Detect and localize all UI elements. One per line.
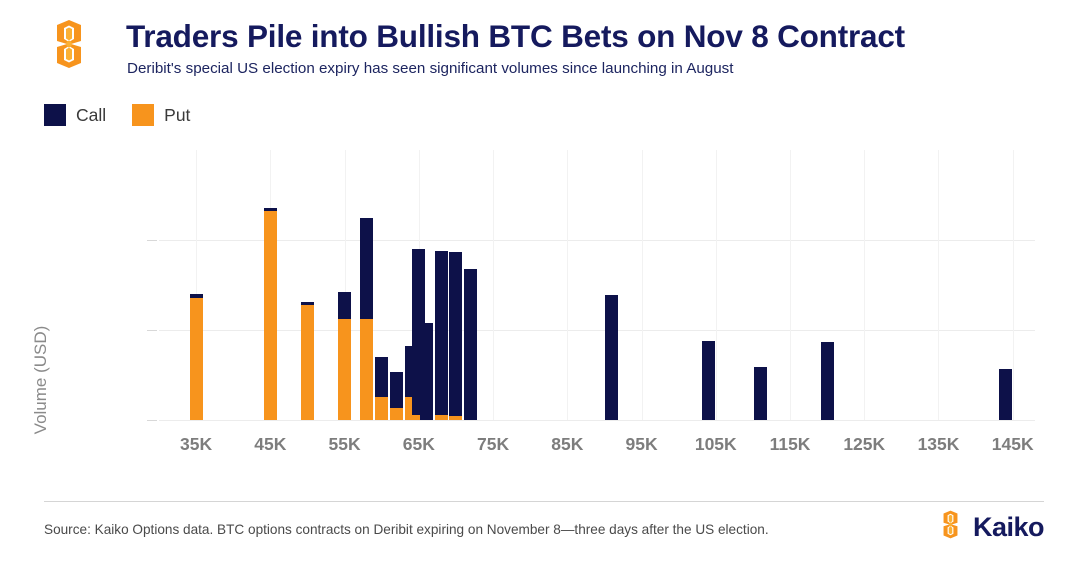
legend-item-put[interactable]: Put xyxy=(132,104,190,126)
gridline-vertical xyxy=(493,150,494,420)
chart-legend: Call Put xyxy=(44,103,216,127)
page-title: Traders Pile into Bullish BTC Bets on No… xyxy=(126,18,905,55)
gridline-vertical xyxy=(716,150,717,420)
bar-column[interactable] xyxy=(605,295,618,420)
bar-segment-call xyxy=(449,252,462,417)
kaiko-hexagon-logo-icon xyxy=(44,19,94,69)
bar-segment-put xyxy=(390,408,403,420)
chart-page: Traders Pile into Bullish BTC Bets on No… xyxy=(0,0,1088,568)
legend-item-call[interactable]: Call xyxy=(44,104,106,126)
x-axis-tick-label: 105K xyxy=(695,434,737,455)
gridline-vertical xyxy=(864,150,865,420)
bar-column[interactable] xyxy=(435,251,448,420)
bar-segment-put xyxy=(190,298,203,420)
x-axis-tick-label: 35K xyxy=(180,434,212,455)
legend-swatch-put xyxy=(132,104,154,126)
bar-column[interactable] xyxy=(449,252,462,420)
bar-segment-call xyxy=(821,342,834,420)
x-axis-tick-label: 65K xyxy=(403,434,435,455)
x-axis-tick-label: 95K xyxy=(625,434,657,455)
bar-segment-put xyxy=(301,305,314,420)
source-note: Source: Kaiko Options data. BTC options … xyxy=(44,522,769,537)
bar-segment-put xyxy=(360,319,373,420)
bar-segment-call xyxy=(190,294,203,298)
x-axis-tick-label: 145K xyxy=(992,434,1034,455)
bar-column[interactable] xyxy=(301,302,314,420)
x-axis-tick-label: 55K xyxy=(329,434,361,455)
bar-column[interactable] xyxy=(264,208,277,420)
gridline-horizontal xyxy=(159,330,1035,331)
bar-segment-call xyxy=(375,357,388,397)
bar-segment-call xyxy=(435,251,448,415)
bar-column[interactable] xyxy=(702,341,715,420)
bar-column[interactable] xyxy=(375,357,388,420)
bar-column[interactable] xyxy=(464,269,477,420)
bar-segment-put xyxy=(338,319,351,420)
legend-label-put: Put xyxy=(164,105,190,126)
bar-chart: Volume (USD) $0M$100M$200M35K45K55K65K75… xyxy=(0,140,1088,470)
bar-segment-call xyxy=(301,302,314,305)
x-axis-tick-label: 135K xyxy=(918,434,960,455)
y-axis-tick-mark xyxy=(147,240,157,241)
legend-swatch-call xyxy=(44,104,66,126)
x-axis-tick-label: 85K xyxy=(551,434,583,455)
bar-column[interactable] xyxy=(999,369,1012,420)
page-header: Traders Pile into Bullish BTC Bets on No… xyxy=(0,0,1088,92)
bar-column[interactable] xyxy=(360,218,373,421)
bar-segment-call xyxy=(999,369,1012,420)
y-axis-tick-mark xyxy=(147,420,157,421)
bar-segment-call xyxy=(464,269,477,420)
bar-column[interactable] xyxy=(190,294,203,420)
brand-name: Kaiko xyxy=(973,512,1044,543)
x-axis-tick-label: 45K xyxy=(254,434,286,455)
bar-segment-call xyxy=(360,218,373,320)
bar-column[interactable] xyxy=(390,372,403,420)
gridline-horizontal xyxy=(159,240,1035,241)
gridline-vertical xyxy=(567,150,568,420)
bar-segment-put xyxy=(435,415,448,420)
gridline-vertical xyxy=(790,150,791,420)
plot-area: $0M$100M$200M35K45K55K65K75K85K95K105K11… xyxy=(159,150,1035,420)
gridline-vertical xyxy=(1013,150,1014,420)
kaiko-hexagon-logo-icon xyxy=(936,510,965,544)
gridline-vertical xyxy=(642,150,643,420)
bar-segment-call xyxy=(754,367,767,420)
gridline-horizontal xyxy=(159,420,1035,421)
footer-divider xyxy=(44,501,1044,502)
gridline-vertical xyxy=(938,150,939,420)
bar-column[interactable] xyxy=(821,342,834,420)
bar-segment-call xyxy=(420,323,433,420)
page-subtitle: Deribit's special US election expiry has… xyxy=(127,60,734,77)
bar-segment-put xyxy=(264,211,277,420)
bar-segment-put xyxy=(375,397,388,420)
x-axis-tick-label: 115K xyxy=(770,434,811,455)
bar-column[interactable] xyxy=(420,323,433,420)
bar-column[interactable] xyxy=(338,292,351,420)
footer-brand: Kaiko xyxy=(936,512,1044,542)
bar-column[interactable] xyxy=(754,367,767,420)
bar-segment-call xyxy=(338,292,351,319)
bar-segment-put xyxy=(449,416,462,420)
legend-label-call: Call xyxy=(76,105,106,126)
y-axis-label: Volume (USD) xyxy=(31,285,51,475)
bar-segment-call xyxy=(390,372,403,408)
y-axis-tick-mark xyxy=(147,330,157,331)
bar-segment-call xyxy=(702,341,715,420)
bar-segment-call xyxy=(264,208,277,212)
x-axis-tick-label: 125K xyxy=(843,434,885,455)
x-axis-tick-label: 75K xyxy=(477,434,509,455)
bar-segment-call xyxy=(605,295,618,420)
